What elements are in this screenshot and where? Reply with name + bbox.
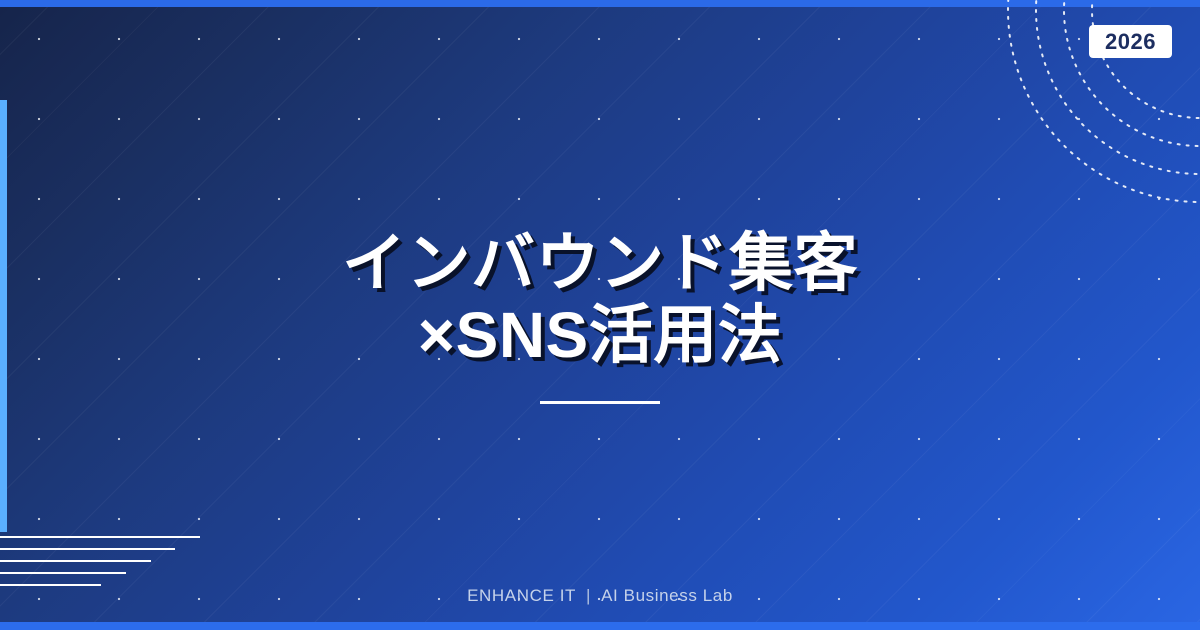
title-block: インバウンド集客 ×SNS活用法 — [0, 228, 1200, 404]
bottom-accent-bar — [0, 622, 1200, 630]
page-title-line-2: ×SNS活用法 — [0, 300, 1200, 372]
footer-credit: ENHANCE IT|AI Business Lab — [0, 586, 1200, 606]
title-underline-rule — [540, 401, 660, 404]
footer-brand: ENHANCE IT — [467, 586, 576, 605]
top-accent-bar — [0, 0, 1200, 7]
deco-line — [0, 548, 175, 550]
page-title-line-1: インバウンド集客 — [0, 228, 1200, 300]
deco-line — [0, 560, 151, 562]
footer-separator: | — [586, 586, 591, 605]
bottom-left-line-decoration — [0, 536, 220, 586]
deco-line — [0, 572, 126, 574]
deco-line — [0, 536, 200, 538]
arc-ring-2 — [1064, 0, 1200, 146]
slide-canvas: 2026 インバウンド集客 ×SNS活用法 ENHANCE IT|AI Busi… — [0, 0, 1200, 630]
footer-sub-brand: AI Business Lab — [601, 586, 733, 605]
year-badge: 2026 — [1089, 25, 1172, 58]
arc-ring-1 — [1092, 0, 1200, 118]
